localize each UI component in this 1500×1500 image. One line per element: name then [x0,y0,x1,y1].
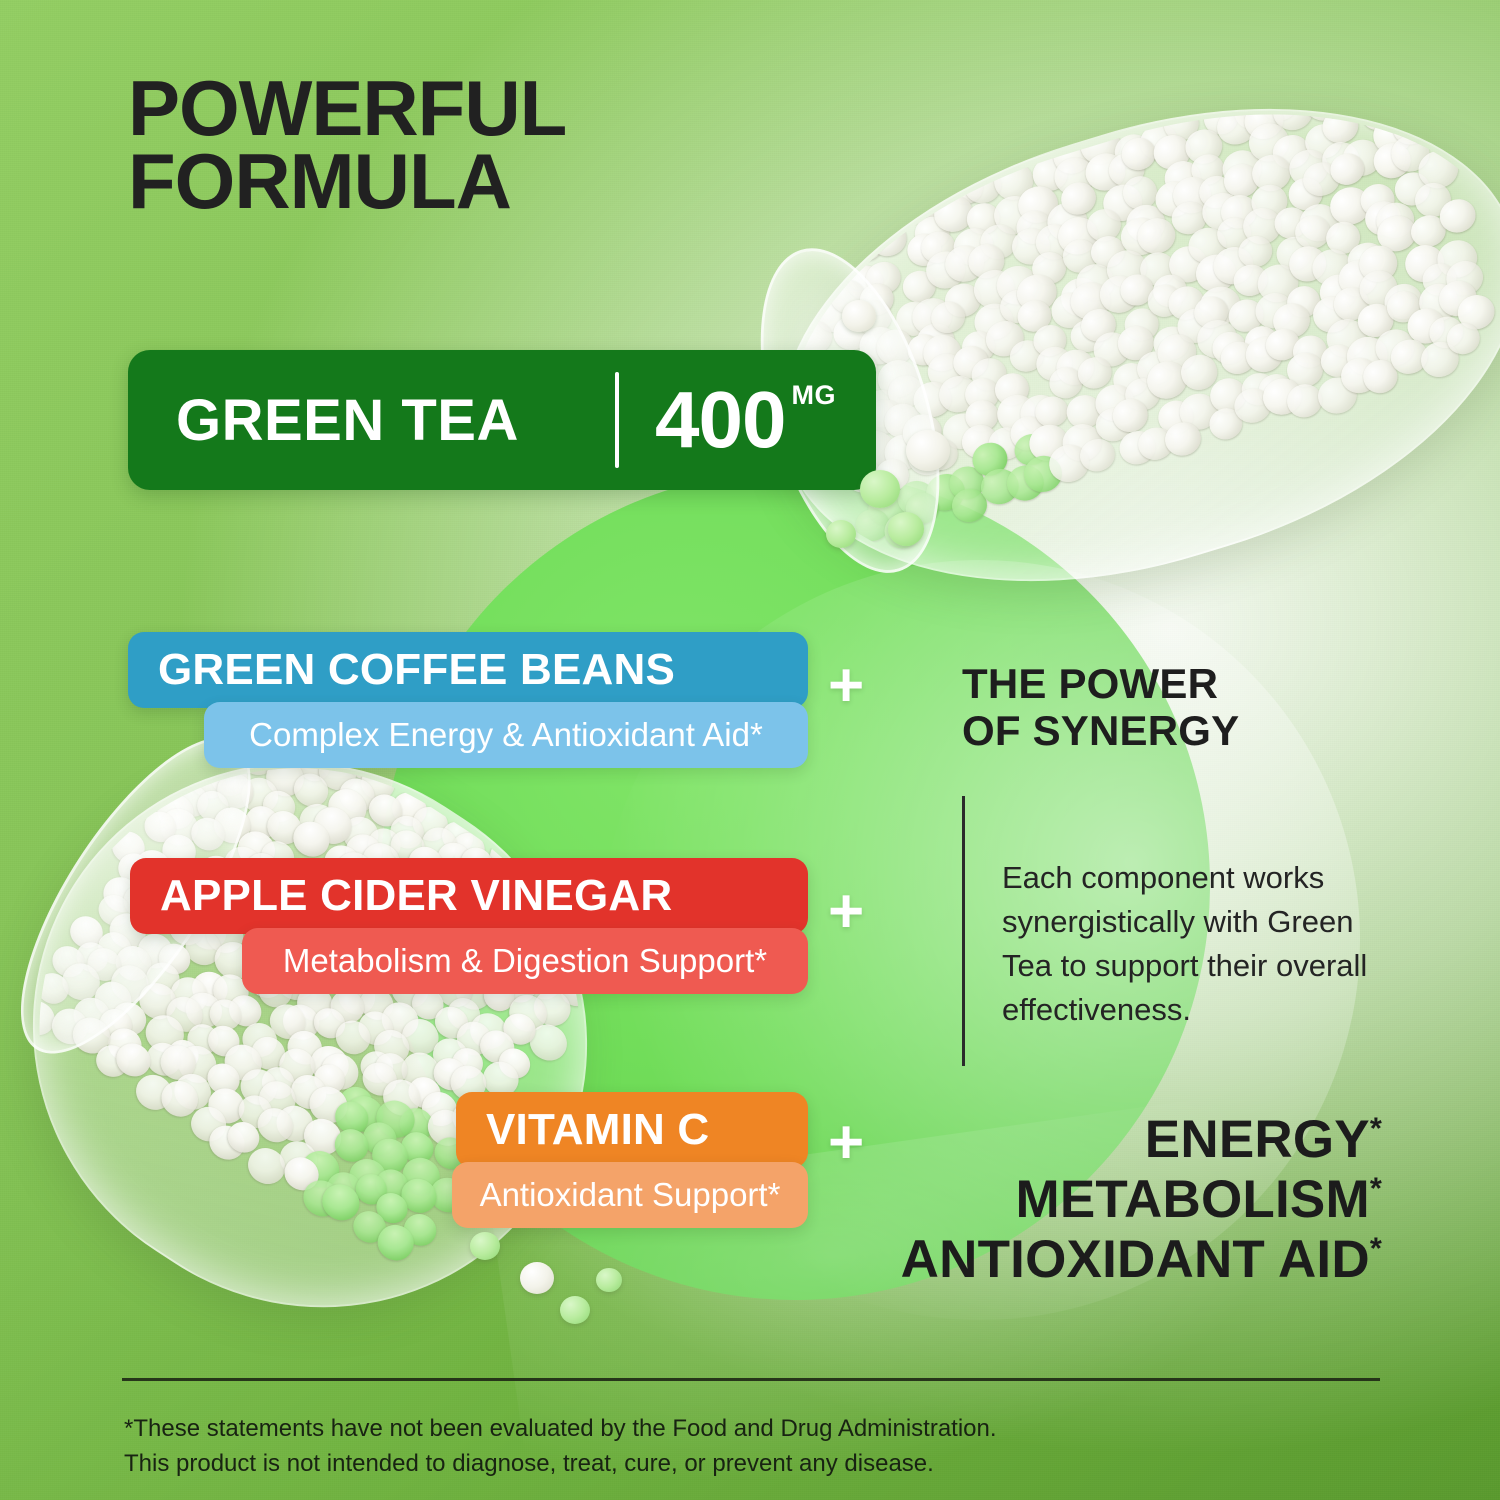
badge-divider [615,372,619,468]
stray-tablet [906,430,950,471]
page-title: POWERFUL FORMULA [128,72,888,219]
benefit-label: ENERGY [1145,1110,1370,1169]
infographic-canvas: POWERFUL FORMULA GREEN TEA 400 MG GREEN … [0,0,1500,1500]
ingredient-name-bar: APPLE CIDER VINEGAR [130,858,808,934]
fda-disclaimer: *These statements have not been evaluate… [124,1412,1124,1482]
ingredient-benefit-bar: Metabolism & Digestion Support* [242,928,808,994]
synergy-vertical-rule [962,796,965,1066]
synergy-heading-line-1: THE POWER [962,660,1218,707]
stray-tablet [520,1262,554,1294]
synergy-heading: THE POWER OF SYNERGY [962,660,1382,754]
badge-dosage-amount: 400 [655,380,785,460]
plus-icon: + [828,655,864,717]
green-tea-dosage-badge: GREEN TEA 400 MG [128,350,876,490]
ingredient-name: APPLE CIDER VINEGAR [130,871,702,921]
benefit-item-antioxidant-aid: ANTIOXIDANT AID* [662,1230,1382,1290]
stray-tablet [888,512,924,546]
plus-icon: + [828,881,864,943]
ingredient-row-green-coffee-beans: GREEN COFFEE BEANS Complex Energy & Anti… [128,632,808,768]
ingredient-benefit-bar: Complex Energy & Antioxidant Aid* [204,702,808,768]
page-title-line-2: FORMULA [128,145,888,218]
ingredient-name-bar: GREEN COFFEE BEANS [128,632,808,708]
disclaimer-line-1: *These statements have not been evaluate… [124,1412,1124,1447]
benefit-asterisk: * [1370,1230,1382,1265]
stray-tablet [826,520,856,548]
benefits-list: ENERGY* METABOLISM* ANTIOXIDANT AID* [662,1110,1382,1290]
benefit-item-metabolism: METABOLISM* [662,1170,1382,1230]
benefit-asterisk: * [1370,1170,1382,1205]
badge-ingredient-name: GREEN TEA [176,387,519,454]
badge-dosage-unit: MG [792,380,837,411]
ingredient-name: GREEN COFFEE BEANS [128,645,705,695]
stray-tablet [560,1296,590,1324]
stray-tablet [860,470,900,508]
stray-tablet [470,1232,500,1260]
benefit-label: METABOLISM [1016,1170,1370,1229]
stray-tablet [842,300,876,332]
ingredient-benefit: Complex Energy & Antioxidant Aid* [223,716,789,754]
ingredient-benefit: Metabolism & Digestion Support* [257,942,793,980]
ingredient-row-apple-cider-vinegar: APPLE CIDER VINEGAR Metabolism & Digesti… [130,858,808,994]
synergy-heading-line-2: OF SYNERGY [962,707,1382,754]
disclaimer-line-2: This product is not intended to diagnose… [124,1447,1124,1482]
benefit-item-energy: ENERGY* [662,1110,1382,1170]
benefit-asterisk: * [1370,1110,1382,1145]
benefit-label: ANTIOXIDANT AID [901,1230,1370,1289]
footer-divider [122,1378,1380,1381]
synergy-description: Each component works synergistically wit… [1002,856,1402,1032]
